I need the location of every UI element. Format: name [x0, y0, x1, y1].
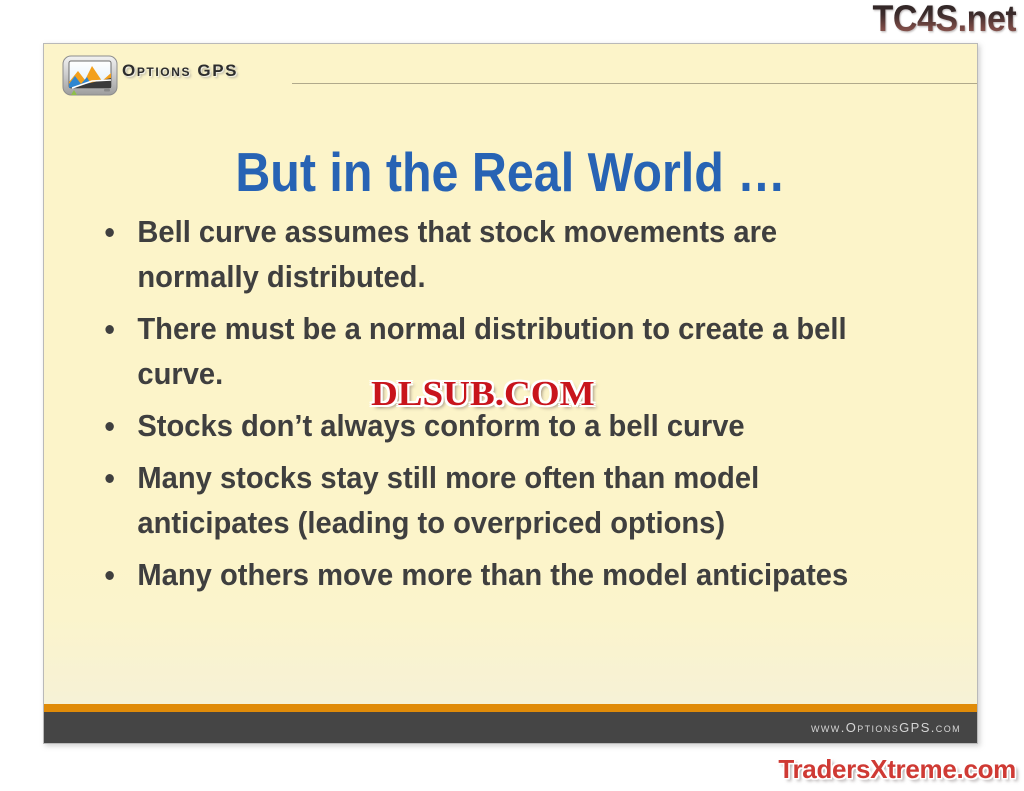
list-item-text: Bell curve assumes that stock movements … [137, 214, 777, 294]
bullet-dot-icon [105, 571, 113, 580]
footer-accent-bar [44, 704, 977, 712]
list-item-text: Many stocks stay still more often than m… [137, 460, 759, 540]
brand-tradersxtreme: TradersXtreme.com [778, 754, 1016, 785]
bullet-dot-icon [105, 228, 113, 237]
list-item: Many others move more than the model ant… [96, 552, 886, 597]
list-item-text: Many others move more than the model ant… [137, 557, 848, 592]
dlsub-watermark: DLSUB.COM [371, 374, 595, 414]
slide-header: Options GPS [44, 44, 977, 96]
options-gps-wordmark: Options GPS [122, 61, 238, 81]
brand-tc4s: TC4S.net [872, 0, 1016, 40]
footer-url: www.OptionsGPS.com [811, 720, 961, 735]
list-item: Many stocks stay still more often than m… [96, 455, 886, 545]
list-item: Bell curve assumes that stock movements … [96, 209, 886, 299]
header-divider [292, 83, 977, 84]
page-title: But in the Real World … [100, 141, 921, 203]
presentation-slide: Options GPS But in the Real World … Bell… [43, 43, 978, 744]
bullet-dot-icon [105, 325, 113, 334]
slide-footer: www.OptionsGPS.com [44, 712, 977, 743]
bullet-dot-icon [105, 474, 113, 483]
gps-device-icon [62, 54, 118, 98]
bullet-dot-icon [105, 422, 113, 431]
